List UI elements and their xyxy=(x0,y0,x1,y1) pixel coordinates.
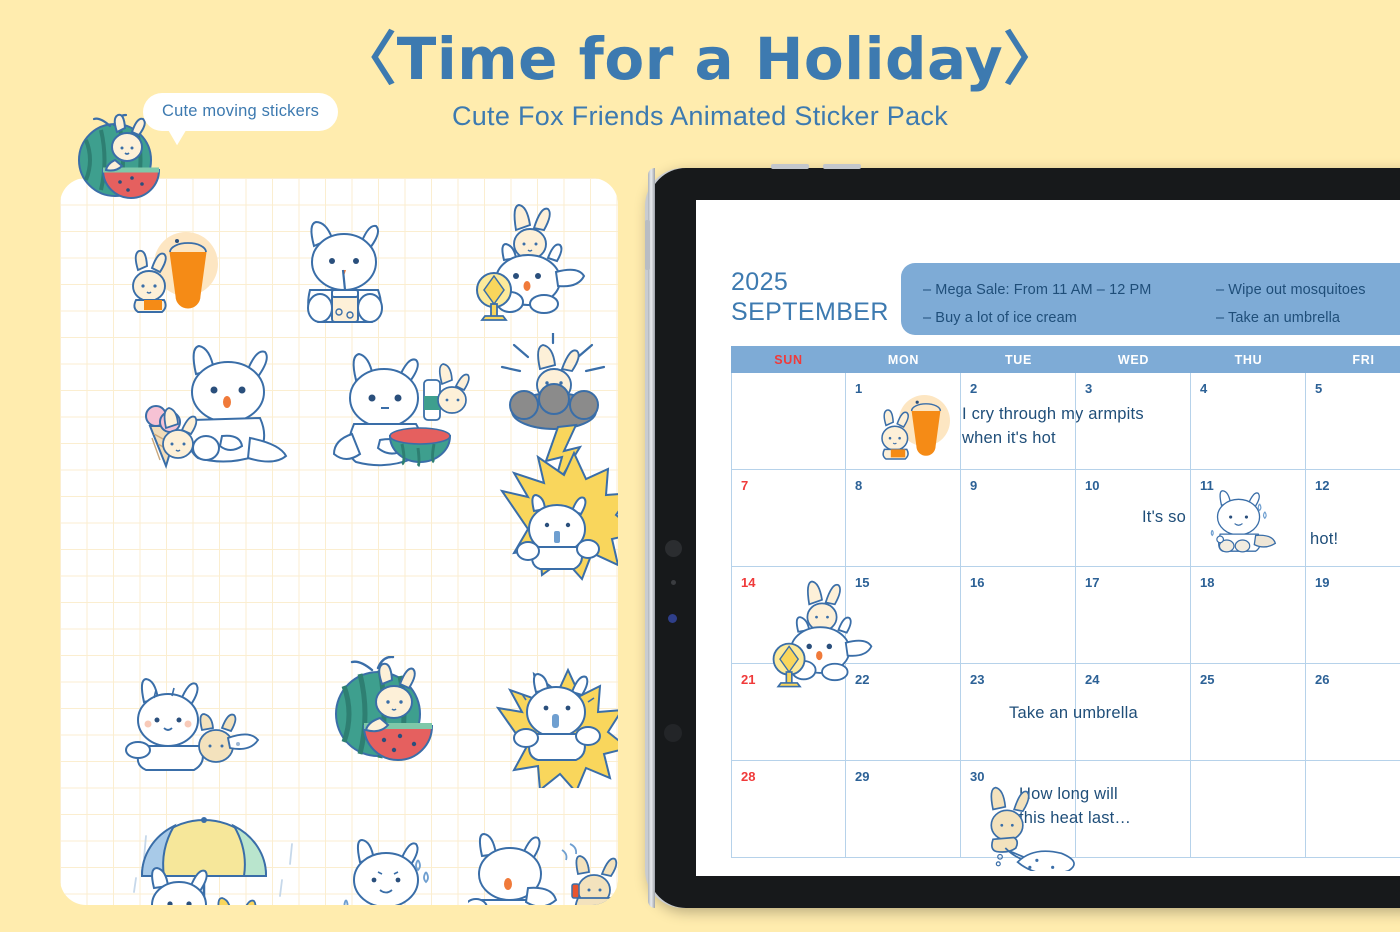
day-number: 26 xyxy=(1315,672,1329,687)
top-button[interactable] xyxy=(771,164,809,169)
day-number: 12 xyxy=(1315,478,1329,493)
tablet-metal-edge xyxy=(648,168,655,908)
sticker-bunny-on-storm-cloud-lightning[interactable] xyxy=(480,333,618,588)
calendar-day-cell[interactable]: 12 hot! xyxy=(1306,470,1400,566)
sticker-cat-waving-at-bunny[interactable] xyxy=(468,826,618,905)
sticker-cat-and-bunny-sweating[interactable] xyxy=(124,668,284,783)
sticker-bunny-on-watermelon-slice[interactable] xyxy=(328,656,468,781)
sticker-cat-with-ice-cream-cone[interactable] xyxy=(128,340,308,495)
tablet-device: 2025 SEPTEMBER – Mega Sale: From 11 AM –… xyxy=(648,168,1400,908)
calendar-day-cell[interactable] xyxy=(1306,761,1400,857)
day-number: 9 xyxy=(970,478,977,493)
note-its-so: It's so xyxy=(1142,506,1186,530)
dow-thu: THU xyxy=(1191,346,1306,373)
sticker-cat-shocked-in-lightning-burst[interactable] xyxy=(488,648,618,793)
day-number: 17 xyxy=(1085,575,1099,590)
calendar-day-cell[interactable]: 8 xyxy=(846,470,961,566)
badge-bubble: Cute moving stickers xyxy=(143,93,338,131)
dow-wed: WED xyxy=(1076,346,1191,373)
day-number: 21 xyxy=(741,672,755,687)
day-number: 14 xyxy=(741,575,755,590)
calendar-day-cell[interactable]: 11 xyxy=(1191,470,1306,566)
bunny-melting-puddle-icon xyxy=(979,783,1093,876)
dow-sun: SUN xyxy=(731,346,846,373)
calendar-title: 2025 SEPTEMBER xyxy=(731,268,889,327)
note-hot: hot! xyxy=(1310,528,1338,552)
calendar-day-cell[interactable]: 14 xyxy=(731,567,846,663)
day-number: 8 xyxy=(855,478,862,493)
dow-fri: FRI xyxy=(1306,346,1400,373)
day-number: 30 xyxy=(970,769,984,784)
sticker-cat-and-bunny-with-fan[interactable] xyxy=(460,198,600,333)
calendar-day-cell[interactable]: 7 xyxy=(731,470,846,566)
calendar-day-cell[interactable]: 2 xyxy=(961,373,1076,469)
calendar-day-cell[interactable]: 10 It's so xyxy=(1076,470,1191,566)
note-item: – Take an umbrella xyxy=(1216,304,1366,332)
cat-and-bunny-with-fan-icon xyxy=(758,575,886,699)
tablet-screen: 2025 SEPTEMBER – Mega Sale: From 11 AM –… xyxy=(696,200,1400,876)
calendar-day-cell[interactable]: 19 xyxy=(1306,567,1400,663)
calendar-header: 2025 SEPTEMBER – Mega Sale: From 11 AM –… xyxy=(696,200,1400,332)
sticker-cat-melting-with-fan[interactable] xyxy=(338,828,478,905)
calendar-day-cell[interactable]: 18 xyxy=(1191,567,1306,663)
day-number: 2 xyxy=(970,381,977,396)
ambient-sensor-icon xyxy=(671,580,676,585)
calendar-grid: SUN MON TUE WED THU FRI SAT 1 xyxy=(731,346,1400,858)
day-number: 4 xyxy=(1200,381,1207,396)
day-number: 24 xyxy=(1085,672,1099,687)
calendar-week-row: 14 xyxy=(731,567,1400,664)
volume-button[interactable] xyxy=(645,220,650,270)
top-button[interactable] xyxy=(823,164,861,169)
notes-column-right: – Wipe out mosquitoes – Take an umbrella xyxy=(1216,276,1366,333)
sticker-cat-drinking-bubble-tea[interactable] xyxy=(288,208,408,343)
note-item: – Mega Sale: From 11 AM – 12 PM xyxy=(923,276,1152,304)
badge-tail xyxy=(166,124,192,146)
sticker-sheet xyxy=(60,178,618,905)
bunny-with-orange-drink-icon xyxy=(870,387,966,480)
day-number: 7 xyxy=(741,478,748,493)
calendar-day-cell[interactable]: 24 xyxy=(1076,664,1191,760)
sticker-bunny-with-orange-drink[interactable] xyxy=(118,222,238,337)
day-number: 1 xyxy=(855,381,862,396)
notes-column-left: – Mega Sale: From 11 AM – 12 PM – Buy a … xyxy=(923,276,1152,333)
sticker-cat-and-bunny-under-umbrella[interactable] xyxy=(132,808,312,905)
calendar-day-cell[interactable]: 23 Take an umbrella xyxy=(961,664,1076,760)
calendar-month: SEPTEMBER xyxy=(731,298,889,328)
day-number: 3 xyxy=(1085,381,1092,396)
day-number: 19 xyxy=(1315,575,1329,590)
cat-melting-with-fan-icon xyxy=(1207,482,1299,561)
day-number: 29 xyxy=(855,769,869,784)
sticker-cat-eating-watermelon-bowl[interactable] xyxy=(328,340,488,495)
day-number: 25 xyxy=(1200,672,1214,687)
calendar-day-cell[interactable] xyxy=(1076,761,1191,857)
day-number: 16 xyxy=(970,575,984,590)
calendar-day-cell[interactable] xyxy=(1191,761,1306,857)
calendar-day-cell[interactable]: 5 xyxy=(1306,373,1400,469)
day-of-week-row: SUN MON TUE WED THU FRI SAT xyxy=(731,346,1400,373)
day-number: 18 xyxy=(1200,575,1214,590)
calendar-day-cell[interactable]: 3 xyxy=(1076,373,1191,469)
page-title: 〈Time for a Holiday〉 xyxy=(0,28,1400,91)
calendar-week-row: 1 xyxy=(731,373,1400,470)
calendar-day-cell[interactable]: 17 xyxy=(1076,567,1191,663)
calendar-day-cell[interactable]: 25 xyxy=(1191,664,1306,760)
dow-mon: MON xyxy=(846,346,961,373)
front-camera-icon xyxy=(664,724,682,742)
calendar-day-cell[interactable]: 1 xyxy=(846,373,961,469)
calendar-day-cell[interactable]: 26 xyxy=(1306,664,1400,760)
calendar-day-cell[interactable]: 16 xyxy=(961,567,1076,663)
calendar-year: 2025 xyxy=(731,268,889,298)
notes-banner[interactable]: – Mega Sale: From 11 AM – 12 PM – Buy a … xyxy=(901,263,1400,335)
calendar-day-cell[interactable]: 9 xyxy=(961,470,1076,566)
day-number: 10 xyxy=(1085,478,1099,493)
dow-tue: TUE xyxy=(961,346,1076,373)
note-item: – Buy a lot of ice cream xyxy=(923,304,1152,332)
calendar-day-cell[interactable]: 30 xyxy=(961,761,1076,857)
calendar-day-cell[interactable] xyxy=(731,373,846,469)
day-number: 23 xyxy=(970,672,984,687)
day-number: 5 xyxy=(1315,381,1322,396)
calendar-day-cell[interactable]: 4 xyxy=(1191,373,1306,469)
calendar-week-row: 7 8 9 10 It's so 11 xyxy=(731,470,1400,567)
calendar-day-cell[interactable]: 28 xyxy=(731,761,846,857)
status-indicator-led-icon xyxy=(668,614,677,623)
calendar-day-cell[interactable]: 29 xyxy=(846,761,961,857)
calendar-week-row: 28 29 30 xyxy=(731,761,1400,858)
front-camera-icon xyxy=(665,540,682,557)
day-number: 28 xyxy=(741,769,755,784)
note-item: – Wipe out mosquitoes xyxy=(1216,276,1366,304)
